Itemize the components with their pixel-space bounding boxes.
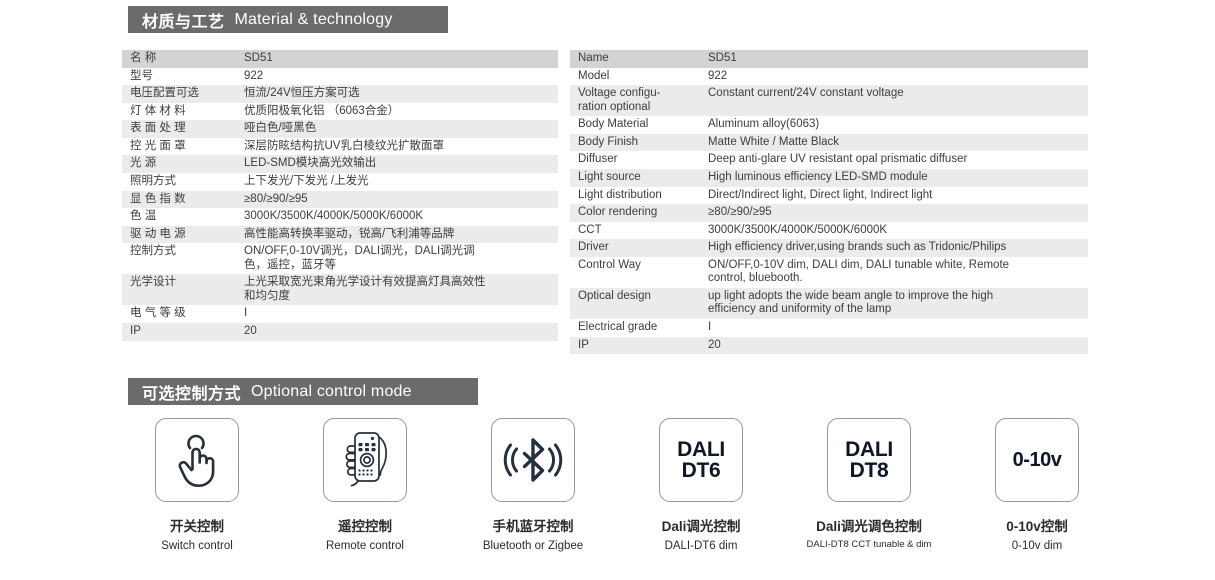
table-row: 驱 动 电 源高性能高转换率驱动，锐高/飞利浦等品牌: [122, 226, 558, 244]
table-row: 显 色 指 数≥80/≥90/≥95: [122, 191, 558, 209]
spec-value: 3000K/3500K/4000K/5000K/6000K: [234, 208, 558, 226]
spec-value: 922: [698, 68, 1088, 86]
table-row: DriverHigh efficiency driver,using brand…: [570, 239, 1088, 257]
table-row: 控制方式ON/OFF,0-10V调光，DALI调光，DALI调光调 色，遥控，蓝…: [122, 243, 558, 274]
spec-value: I: [234, 305, 558, 323]
spec-key: Body Finish: [570, 134, 698, 152]
spec-value: 上光采取宽光束角光学设计有效提高灯具高效性 和均匀度: [234, 274, 558, 305]
spec-key: Optical design: [570, 288, 698, 306]
spec-value: 20: [234, 323, 558, 341]
table-row: 光学设计上光采取宽光束角光学设计有效提高灯具高效性 和均匀度: [122, 274, 558, 305]
control-mode-label-en: Switch control: [122, 540, 272, 553]
spec-key: CCT: [570, 222, 698, 240]
table-row: Light sourceHigh luminous efficiency LED…: [570, 169, 1088, 187]
spec-value: Matte White / Matte Black: [698, 134, 1088, 152]
spec-value: 922: [234, 68, 558, 86]
spec-key: 名 称: [122, 50, 234, 68]
table-row: 型号922: [122, 68, 558, 86]
table-row: 名 称SD51: [122, 50, 558, 68]
spec-key: 色 温: [122, 208, 234, 226]
spec-value: 恒流/24V恒压方案可选: [234, 85, 558, 103]
spec-value: I: [698, 319, 1088, 337]
control-mode-label-cn: 0-10v控制: [962, 520, 1112, 535]
table-row: Voltage configu- ration optionalConstant…: [570, 85, 1088, 116]
spec-value: SD51: [234, 50, 558, 68]
spec-value: 哑白色/哑黑色: [234, 120, 558, 138]
control-mode-label-cn: 开关控制: [122, 520, 272, 535]
control-mode-item[interactable]: 0-10v0-10v控制0-10v dim: [962, 418, 1112, 568]
spec-key: 控制方式: [122, 243, 234, 261]
control-mode-label-en: DALI-DT6 dim: [626, 540, 776, 553]
zero-to-ten-volt-icon[interactable]: 0-10v: [995, 418, 1079, 502]
control-mode-text: 手机蓝牙控制Bluetooth or Zigbee: [458, 502, 608, 552]
table-row: 控 光 面 罩深层防眩结构抗UV乳白棱纹光扩散面罩: [122, 138, 558, 156]
spec-key: 照明方式: [122, 173, 234, 191]
spec-value: 20: [698, 337, 1088, 355]
dali-dt6-icon-label: DALIDT6: [677, 439, 725, 482]
table-row: 照明方式上下发光/下发光 /上发光: [122, 173, 558, 191]
spec-key: Name: [570, 50, 698, 68]
spec-value: ≥80/≥90/≥95: [234, 191, 558, 209]
spec-key: Color rendering: [570, 204, 698, 222]
table-row: Body FinishMatte White / Matte Black: [570, 134, 1088, 152]
section-header-material: 材质与工艺 Material & technology: [128, 6, 448, 33]
table-row: CCT3000K/3500K/4000K/5000K/6000K: [570, 222, 1088, 240]
spec-key: Body Material: [570, 116, 698, 134]
control-mode-text: 0-10v控制0-10v dim: [962, 502, 1112, 552]
table-row: Electrical gradeI: [570, 319, 1088, 337]
table-row: DiffuserDeep anti-glare UV resistant opa…: [570, 151, 1088, 169]
control-mode-item[interactable]: 手机蓝牙控制Bluetooth or Zigbee: [458, 418, 608, 568]
table-row: NameSD51: [570, 50, 1088, 68]
spec-table-chinese: 名 称SD51型号922电压配置可选恒流/24V恒压方案可选灯 体 材 料优质阳…: [122, 50, 558, 341]
section-header-control-cn: 可选控制方式: [142, 380, 241, 404]
table-row: Light distributionDirect/Indirect light,…: [570, 187, 1088, 205]
control-mode-label-cn: Dali调光调色控制: [794, 520, 944, 535]
section-header-material-en: Material & technology: [235, 11, 393, 29]
section-header-material-cn: 材质与工艺: [142, 8, 225, 32]
control-mode-text: 遥控控制Remote control: [290, 502, 440, 552]
table-row: Control WayON/OFF,0-10V dim, DALI dim, D…: [570, 257, 1088, 288]
spec-key: 电压配置可选: [122, 85, 234, 103]
spec-key: 电 气 等 级: [122, 305, 234, 323]
spec-value: High efficiency driver,using brands such…: [698, 239, 1088, 257]
dali-dt8-icon[interactable]: DALIDT8: [827, 418, 911, 502]
spec-value: 3000K/3500K/4000K/5000K/6000K: [698, 222, 1088, 240]
spec-key: 显 色 指 数: [122, 191, 234, 209]
control-mode-label-en: DALI-DT8 CCT tunable & dim: [794, 540, 944, 550]
table-row: IP20: [122, 323, 558, 341]
spec-value: Deep anti-glare UV resistant opal prisma…: [698, 151, 1088, 169]
spec-key: 型号: [122, 68, 234, 86]
spec-value: ≥80/≥90/≥95: [698, 204, 1088, 222]
control-mode-text: 开关控制Switch control: [122, 502, 272, 552]
table-row: Model922: [570, 68, 1088, 86]
dali-dt8-icon-label: DALIDT8: [845, 439, 893, 482]
spec-key: 驱 动 电 源: [122, 226, 234, 244]
table-row: 光 源LED-SMD模块高光效输出: [122, 155, 558, 173]
spec-value: Direct/Indirect light, Direct light, Ind…: [698, 187, 1088, 205]
spec-key: Model: [570, 68, 698, 86]
table-row: 电压配置可选恒流/24V恒压方案可选: [122, 85, 558, 103]
spec-value: 上下发光/下发光 /上发光: [234, 173, 558, 191]
control-mode-label-cn: Dali调光控制: [626, 520, 776, 535]
zero-to-ten-volt-icon-label: 0-10v: [1013, 449, 1062, 472]
control-mode-text: Dali调光控制DALI-DT6 dim: [626, 502, 776, 552]
bluetooth-icon[interactable]: [491, 418, 575, 502]
spec-value: ON/OFF,0-10V dim, DALI dim, DALI tunable…: [698, 257, 1088, 288]
table-row: 电 气 等 级I: [122, 305, 558, 323]
table-row: Body MaterialAluminum alloy(6063): [570, 116, 1088, 134]
control-mode-label-en: 0-10v dim: [962, 540, 1112, 553]
spec-key: Light distribution: [570, 187, 698, 205]
control-mode-item[interactable]: 遥控控制Remote control: [290, 418, 440, 568]
control-mode-item[interactable]: DALIDT6 Dali调光控制DALI-DT6 dim: [626, 418, 776, 568]
spec-value: 优质阳极氧化铝 （6063合金）: [234, 103, 558, 121]
spec-value: ON/OFF,0-10V调光，DALI调光，DALI调光调 色，遥控，蓝牙等: [234, 243, 558, 274]
spec-key: 控 光 面 罩: [122, 138, 234, 156]
table-row: 色 温3000K/3500K/4000K/5000K/6000K: [122, 208, 558, 226]
control-mode-label-en: Bluetooth or Zigbee: [458, 540, 608, 553]
spec-key: Voltage configu- ration optional: [570, 85, 698, 116]
remote-control-icon[interactable]: [323, 418, 407, 502]
spec-value: Aluminum alloy(6063): [698, 116, 1088, 134]
spec-value: 深层防眩结构抗UV乳白棱纹光扩散面罩: [234, 138, 558, 156]
spec-key: IP: [570, 337, 698, 355]
spec-value: LED-SMD模块高光效输出: [234, 155, 558, 173]
spec-value: up light adopts the wide beam angle to i…: [698, 288, 1088, 319]
spec-table-english: NameSD51Model922Voltage configu- ration …: [570, 50, 1088, 354]
control-mode-label-en: Remote control: [290, 540, 440, 553]
table-row: IP20: [570, 337, 1088, 355]
control-mode-label-cn: 手机蓝牙控制: [458, 520, 608, 535]
control-mode-item[interactable]: 开关控制Switch control: [122, 418, 272, 568]
control-mode-label-cn: 遥控控制: [290, 520, 440, 535]
section-header-control-mode: 可选控制方式 Optional control mode: [128, 378, 478, 405]
spec-key: Control Way: [570, 257, 698, 275]
spec-key: Diffuser: [570, 151, 698, 169]
control-mode-text: Dali调光调色控制DALI-DT8 CCT tunable & dim: [794, 502, 944, 550]
spec-sheet-page: 材质与工艺 Material & technology 名 称SD51型号922…: [0, 0, 1215, 580]
table-row: 表 面 处 理哑白色/哑黑色: [122, 120, 558, 138]
table-row: Color rendering≥80/≥90/≥95: [570, 204, 1088, 222]
spec-value: High luminous efficiency LED-SMD module: [698, 169, 1088, 187]
spec-key: 灯 体 材 料: [122, 103, 234, 121]
spec-key: 光学设计: [122, 274, 234, 292]
spec-key: 表 面 处 理: [122, 120, 234, 138]
table-row: 灯 体 材 料优质阳极氧化铝 （6063合金）: [122, 103, 558, 121]
dali-dt6-icon[interactable]: DALIDT6: [659, 418, 743, 502]
spec-value: Constant current/24V constant voltage: [698, 85, 1088, 103]
table-row: Optical designup light adopts the wide b…: [570, 288, 1088, 319]
hand-tap-icon[interactable]: [155, 418, 239, 502]
spec-key: Driver: [570, 239, 698, 257]
spec-key: 光 源: [122, 155, 234, 173]
section-header-control-en: Optional control mode: [251, 383, 412, 401]
spec-value: 高性能高转换率驱动，锐高/飞利浦等品牌: [234, 226, 558, 244]
control-mode-item[interactable]: DALIDT8 Dali调光调色控制DALI-DT8 CCT tunable &…: [794, 418, 944, 568]
spec-key: Electrical grade: [570, 319, 698, 337]
spec-key: Light source: [570, 169, 698, 187]
spec-value: SD51: [698, 50, 1088, 68]
control-mode-list: 开关控制Switch control: [122, 418, 1112, 568]
spec-key: IP: [122, 323, 234, 341]
